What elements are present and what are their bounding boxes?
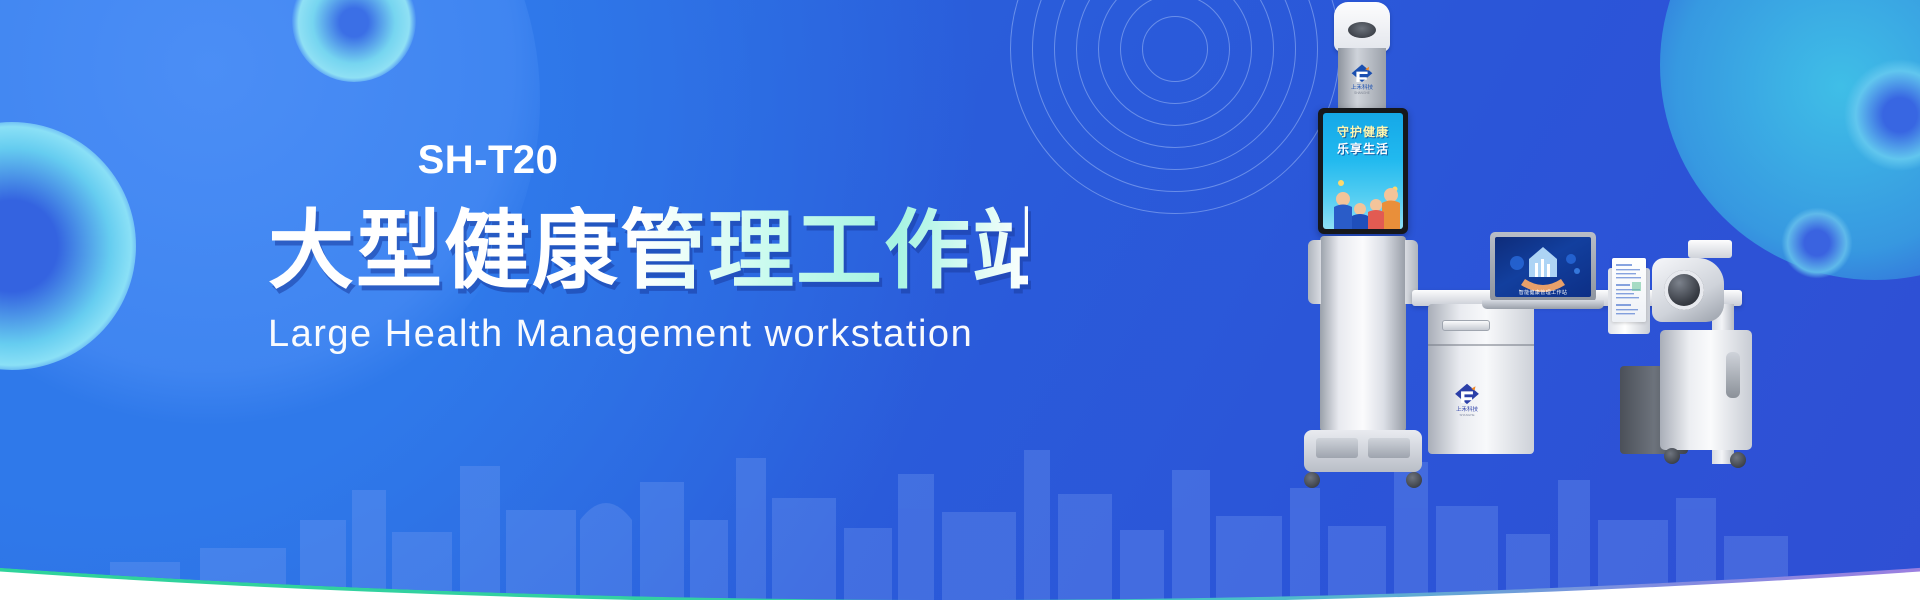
analyzer-lens-icon (1664, 270, 1704, 310)
right-cabinet-handle[interactable] (1726, 352, 1740, 398)
desk-wheel-left (1664, 448, 1680, 464)
kiosk-camera-lens-icon (1348, 22, 1376, 38)
kiosk-wheel-right (1406, 472, 1422, 488)
report-lines-icon (1612, 258, 1646, 322)
analyzer-top-tag (1688, 240, 1732, 258)
svg-text:上禾科技: 上禾科技 (1351, 83, 1374, 91)
health-in-hands-icon (1495, 237, 1591, 297)
kiosk-handle-left[interactable] (1308, 240, 1321, 304)
desk-wheel-right (1730, 452, 1746, 468)
family-illustration-icon (1327, 173, 1403, 229)
laptop-caption: 智能健康管理工作站 (1495, 289, 1591, 296)
laptop-base (1482, 300, 1604, 309)
hero-copy: SH-T20 大型健康管理工作站 Large Health Management… (268, 140, 1028, 356)
kiosk-ad-line-2: 乐享生活 (1323, 140, 1403, 157)
svg-text:上禾科技: 上禾科技 (1456, 405, 1479, 413)
printed-report-paper (1612, 258, 1646, 322)
kiosk-foot-pad-right (1368, 438, 1410, 458)
page-subtitle: Large Health Management workstation (268, 313, 1028, 356)
svg-text:SHANGHE: SHANGHE (1459, 413, 1474, 417)
desk-cabinet-seam (1428, 344, 1534, 346)
cabinet-brand-logo: 上禾科技 SHANGHE (1450, 382, 1484, 418)
product-photo: 上禾科技 SHANGHE 守护健康 乐享生活 (1260, 0, 1860, 600)
kiosk-column (1320, 236, 1406, 432)
kiosk-display[interactable]: 守护健康 乐享生活 (1318, 108, 1408, 234)
page-title: 大型健康管理工作站 (268, 206, 1028, 297)
model-code: SH-T20 (268, 140, 1028, 180)
kiosk-wheel-left (1304, 472, 1320, 488)
svg-text:SHANGHE: SHANGHE (1354, 91, 1370, 95)
product-hero-banner: SH-T20 大型健康管理工作站 Large Health Management… (0, 0, 1920, 600)
kiosk-ad-line-1: 守护健康 (1323, 123, 1403, 140)
banner-background: SH-T20 大型健康管理工作站 Large Health Management… (0, 0, 1920, 600)
kiosk-foot-pad-left (1316, 438, 1358, 458)
laptop-screen[interactable]: 智能健康管理工作站 (1495, 237, 1591, 297)
kiosk-brand-logo: 上禾科技 SHANGHE (1346, 62, 1378, 96)
desk-cabinet-card-slot[interactable] (1442, 320, 1490, 331)
laptop-lid: 智能健康管理工作站 (1490, 232, 1596, 302)
